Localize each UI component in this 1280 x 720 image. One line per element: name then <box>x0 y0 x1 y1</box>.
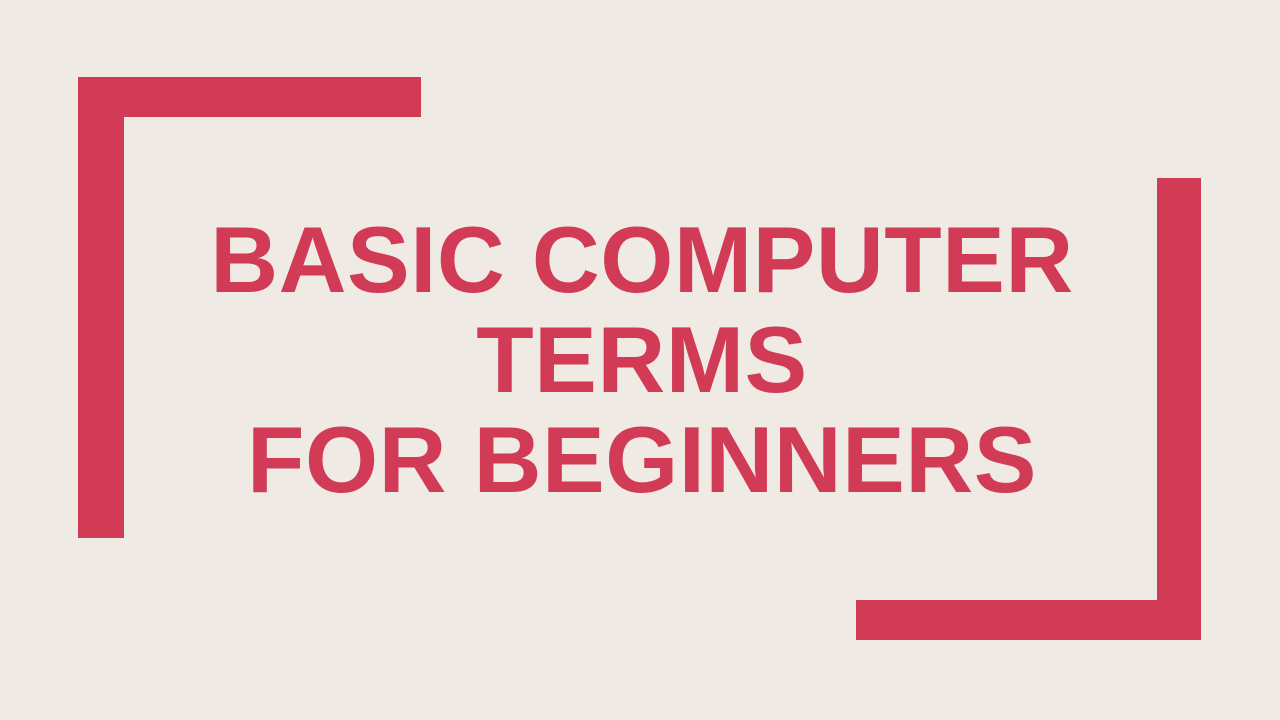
slide-title-line-1: BASIC COMPUTER <box>210 210 1073 310</box>
corner-bracket-bottom-right-vertical-bar <box>1157 178 1201 640</box>
slide-title-line-2: TERMS <box>476 310 808 410</box>
corner-bracket-top-left-horizontal-bar <box>78 77 421 117</box>
corner-bracket-top-left-vertical-bar <box>78 77 124 538</box>
slide-title-line-3: FOR BEGINNERS <box>247 410 1037 510</box>
corner-bracket-bottom-right-horizontal-bar <box>856 600 1201 640</box>
title-slide: BASIC COMPUTER TERMS FOR BEGINNERS <box>0 0 1280 720</box>
